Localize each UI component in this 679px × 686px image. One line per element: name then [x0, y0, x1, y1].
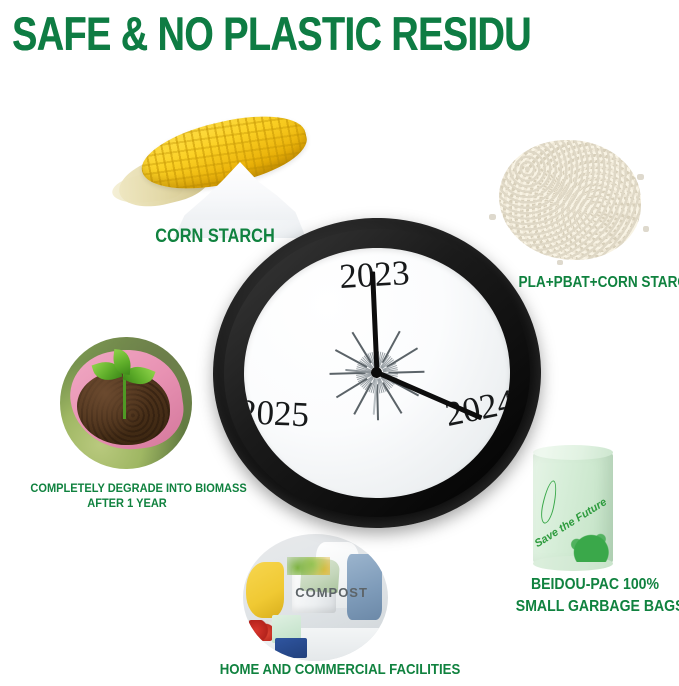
clock-tick-major: [382, 382, 402, 413]
page-title: SAFE & NO PLASTIC RESIDU: [12, 8, 531, 60]
wall-clock: 2023 2024 2025: [213, 218, 541, 528]
product-package-blue: [275, 638, 307, 658]
product-infographic: SAFE & NO PLASTIC RESIDU CORN STARCH PLA…: [0, 0, 679, 686]
caption-pla-pbat-line1: PLA+PBAT+CORN STARCH: [519, 274, 672, 292]
corn-starch-photo: [112, 100, 326, 220]
caption-beidou-line2: SMALL GARBAGE BAGS: [516, 596, 674, 618]
food-scraps: [287, 557, 331, 575]
caption-degrade-line2: AFTER 1 YEAR: [30, 496, 223, 511]
caption-degrade-biomass: COMPLETELY DEGRADE INTO BIOMASS AFTER 1 …: [30, 481, 223, 511]
caption-beidou-line1: BEIDOU-PAC 100%: [516, 574, 674, 596]
garbage-bag-roll-photo: Save the Future: [533, 452, 613, 564]
caption-beidou-pac: BEIDOU-PAC 100% SMALL GARBAGE BAGS: [516, 574, 674, 618]
person-yellow-sleeve: [246, 562, 284, 618]
clock-bezel: 2023 2024 2025: [221, 225, 533, 521]
caption-degrade-line1: COMPLETELY DEGRADE INTO BIOMASS: [30, 481, 223, 496]
seedling-soil-photo: [60, 337, 192, 469]
clock-face: 2023 2024 2025: [241, 244, 513, 502]
compost-facilities-photo: COMPOST: [243, 534, 388, 661]
pellet-stray-4: [557, 260, 563, 265]
caption-facilities-line1: HOME AND COMMERCIAL FACILITIES: [217, 661, 463, 678]
roll-top-ellipse: [533, 445, 613, 460]
compost-bin-label: COMPOST: [295, 585, 368, 600]
clock-frame: 2023 2024 2025: [209, 214, 545, 532]
caption-facilities: HOME AND COMMERCIAL FACILITIES: [217, 661, 463, 678]
caption-pla-pbat: PLA+PBAT+CORN STARCH: [519, 274, 672, 292]
clock-year-2025: 2025: [241, 392, 310, 435]
pellet-stray-3: [643, 226, 649, 232]
pellet-stray-2: [637, 174, 644, 180]
